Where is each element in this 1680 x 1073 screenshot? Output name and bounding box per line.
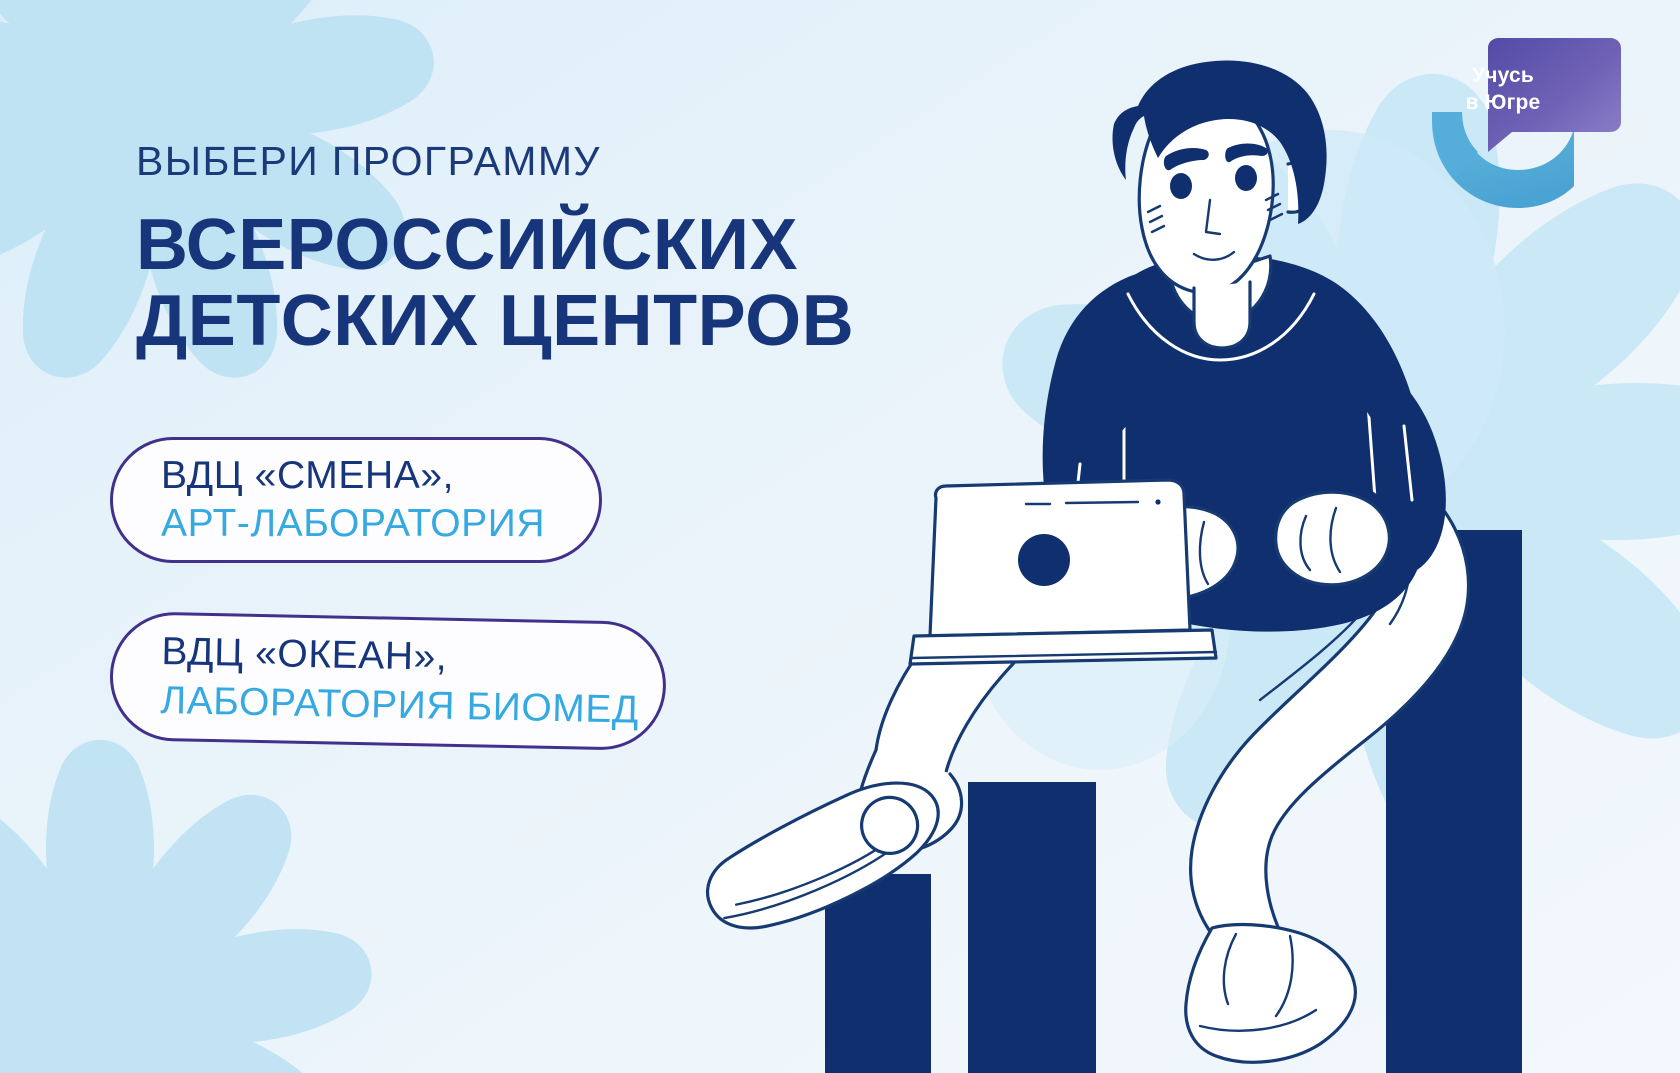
headline-block: ВЫБЕРИ ПРОГРАММУ ВСЕРОССИЙСКИХ ДЕТСКИХ Ц… [136,140,896,360]
eye-left [1170,173,1192,199]
pill-okean-program: ЛАБОРАТОРИЯ БИОМЕД [160,678,663,734]
headline-line-2: ДЕТСКИХ ЦЕНТРОВ [136,283,896,359]
eye-right [1235,165,1257,191]
poster-root: .nv { fill:#0f2f6f; } .wh { fill:#ffffff… [0,0,1680,1073]
program-pill-smena[interactable]: ВДЦ «СМЕНА», АРТ-ЛАБОРАТОРИЯ [110,437,602,563]
logo-svg [1396,36,1626,211]
laptop-logo-dot [1018,534,1070,586]
logo-uchus-v-yugre[interactable]: Учусь в Югре [1396,36,1626,211]
logo-bubble [1488,38,1621,152]
program-pill-okean[interactable]: ВДЦ «ОКЕАН», ЛАБОРАТОРИЯ БИОМЕД [109,611,667,751]
pill-smena-program: АРТ-ЛАБОРАТОРИЯ [161,501,599,547]
headline-line-1: ВСЕРОССИЙСКИХ [136,207,896,283]
bar-1-shortest [825,874,931,1073]
headline-kicker: ВЫБЕРИ ПРОГРАММУ [136,140,896,183]
pill-smena-center: ВДЦ «СМЕНА», [161,453,599,499]
bar-2-medium [968,782,1096,1073]
shoe-back [1186,925,1356,1063]
hand-right [1276,492,1390,585]
pill-okean-center: ВДЦ «ОКЕАН», [161,630,664,686]
laptop [910,480,1216,664]
